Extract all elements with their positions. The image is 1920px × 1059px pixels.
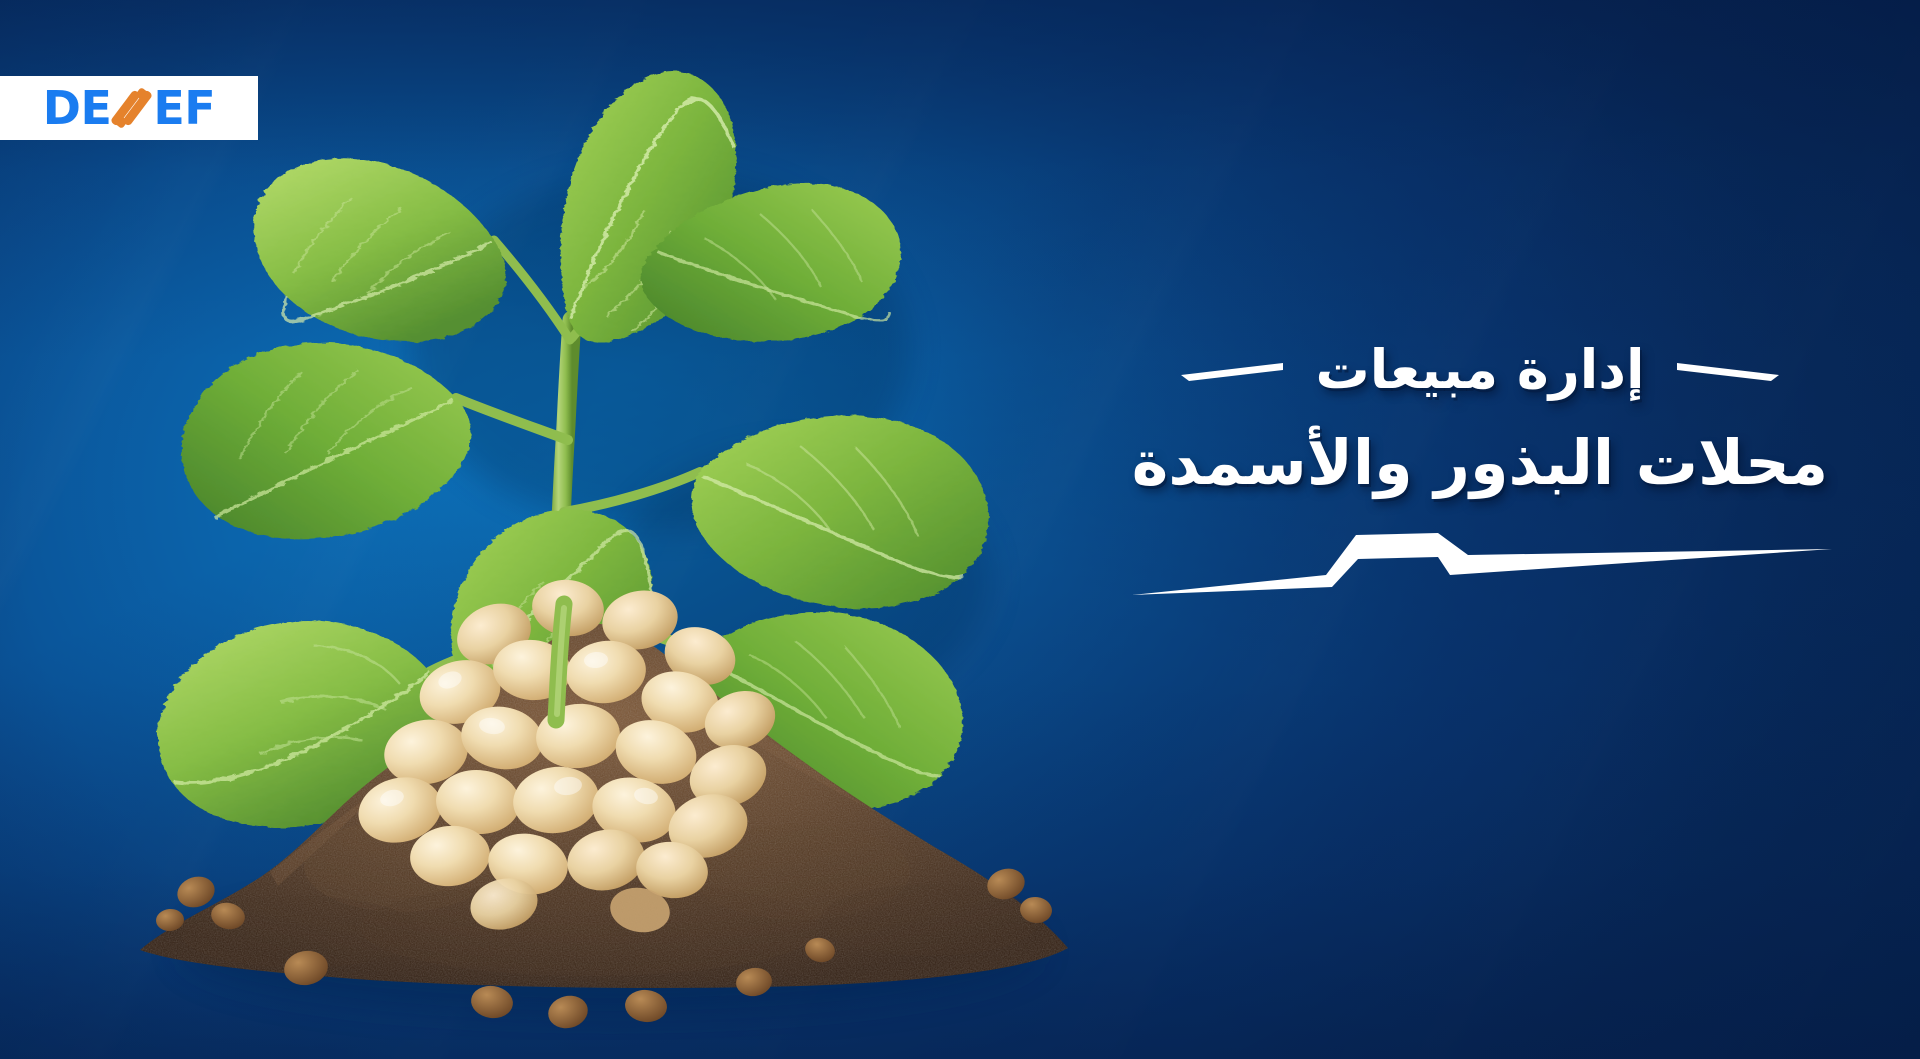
headline-line-1-row: إدارة مبيعات (1080, 330, 1880, 410)
promo-banner: DE EF (0, 0, 1920, 1059)
logo-wordmark: DE EF (43, 86, 215, 130)
wedge-left-icon (1179, 357, 1285, 383)
logo-x-mark-icon (110, 86, 154, 130)
wedge-right-icon (1675, 357, 1781, 383)
logo-text-ef: EF (153, 85, 215, 131)
headline-line-1: إدارة مبيعات (1315, 341, 1644, 399)
headline-block: إدارة مبيعات محلات البذور والأسمدة (1080, 330, 1880, 609)
ribbon-flourish-icon (1120, 513, 1840, 609)
headline-line-2: محلات البذور والأسمدة (1080, 428, 1880, 497)
seedling-illustration (100, 20, 1100, 1040)
dexef-logo[interactable]: DE EF (0, 76, 258, 140)
logo-text-de: DE (43, 85, 112, 131)
